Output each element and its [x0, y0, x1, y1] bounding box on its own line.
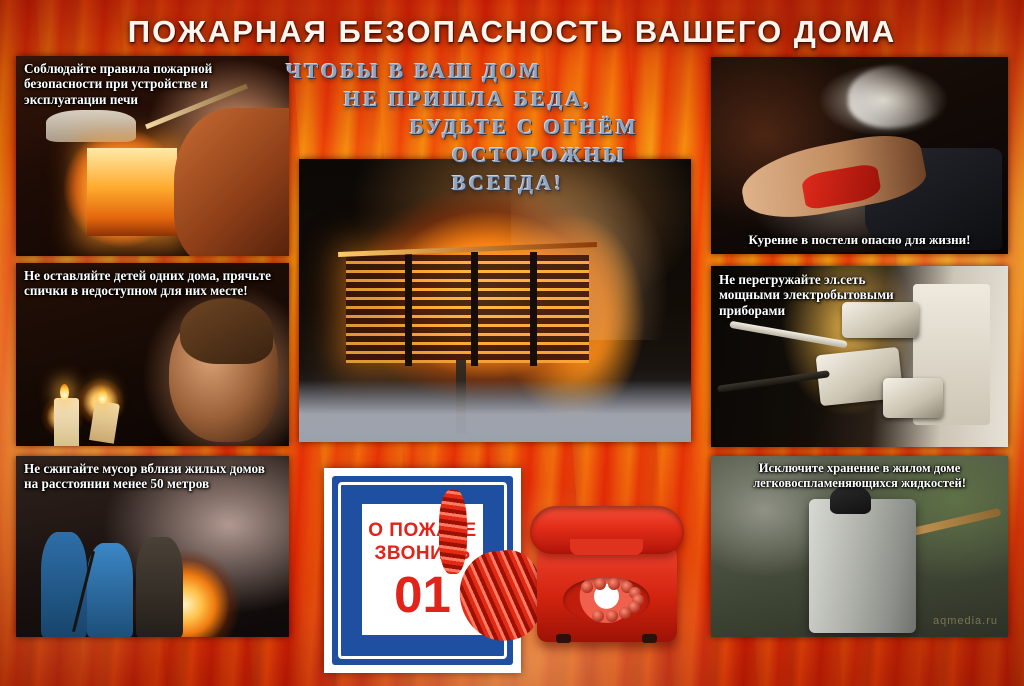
child-hair: [180, 298, 273, 364]
cord-white: [729, 321, 847, 349]
phone-feet: [556, 634, 657, 641]
candle-left: [54, 398, 79, 446]
caption-smoking-in-bed: Курение в постели опасно для жизни!: [711, 232, 1008, 247]
candle-flame-left: [60, 384, 69, 400]
caption-stove: Соблюдайте правила пожарной безопасности…: [24, 61, 274, 107]
poster-title: ПОЖАРНАЯ БЕЗОПАСНОСТЬ ВАШЕГО ДОМА: [0, 14, 1024, 50]
verse-line-3: БУДЬТЕ С ОГНЁМ: [286, 114, 710, 142]
trash-person-b: [87, 543, 133, 637]
caption-fuel-canister: Исключите хранение в жилом доме легковос…: [711, 461, 1008, 490]
stove-pot: [46, 110, 136, 142]
caption-child-candle: Не оставляйте детей одних дома, прячьте …: [24, 268, 279, 299]
photo-panel-smoking-in-bed: Курение в постели опасно для жизни!: [711, 57, 1008, 254]
trash-person-a: [41, 532, 87, 637]
phone-handset-notch: [570, 539, 644, 555]
house-beam-3: [530, 252, 537, 365]
photo-panel-child-candle: Не оставляйте детей одних дома, прячьте …: [16, 263, 289, 446]
phone-dial-hole: [592, 610, 604, 622]
photo-panel-trash-burning: Не сжигайте мусор вблизи жилых домов на …: [16, 456, 289, 637]
photo-panel-fuel-canister: Исключите хранение в жилом доме легковос…: [711, 456, 1008, 637]
phone-dial-hole: [619, 607, 631, 619]
phone-foot-right: [642, 634, 657, 643]
phone-rotary-dial: [563, 577, 650, 623]
trash-firefighter: [136, 537, 182, 637]
red-rotary-telephone: [519, 500, 694, 660]
phone-dial-hole: [608, 578, 620, 590]
smoke-plume: [848, 65, 949, 128]
verse-block: ЧТОБЫ В ВАШ ДОМ НЕ ПРИШЛА БЕДА, БУДЬТЕ С…: [286, 58, 710, 198]
house-burning-wall: [346, 255, 589, 363]
verse-line-4: ОСТОРОЖНЫ ВСЕГДА!: [286, 142, 710, 198]
fire-safety-poster: ПОЖАРНАЯ БЕЗОПАСНОСТЬ ВАШЕГО ДОМА ЧТОБЫ …: [0, 0, 1024, 686]
watermark: aqmedia.ru: [933, 615, 998, 627]
photo-panel-stove: Соблюдайте правила пожарной безопасности…: [16, 56, 289, 256]
plug-lower: [883, 378, 942, 418]
phone-handset: [530, 506, 684, 554]
phone-base: [537, 543, 677, 642]
burning-house-photo: [299, 159, 691, 442]
photo-panel-overloaded-outlet: Не перегружайте эл.сеть мощными электроб…: [711, 266, 1008, 447]
house-beam-1: [405, 252, 412, 365]
cord-black: [717, 370, 830, 393]
candle-flame-right: [98, 388, 107, 404]
metal-canister: [809, 499, 916, 633]
verse-line-1: ЧТОБЫ В ВАШ ДОМ: [286, 58, 710, 86]
house-snow-ground: [299, 380, 691, 442]
caption-overloaded-outlet: Не перегружайте эл.сеть мощными электроб…: [719, 272, 929, 318]
phone-dial-hole: [581, 581, 593, 593]
phone-foot-left: [556, 634, 571, 643]
candle-right: [89, 400, 120, 444]
phone-dial-hole: [606, 610, 618, 622]
phone-dial-hole: [594, 578, 606, 590]
stove-person-arm: [174, 108, 289, 256]
smoking-in-bed-photo: [711, 57, 1008, 254]
house-beam-2: [471, 252, 478, 365]
sign-number: 01: [394, 569, 451, 620]
stove-firebox-glow: [87, 148, 177, 236]
verse-line-2: НЕ ПРИШЛА БЕДА,: [286, 86, 710, 114]
garden-hose: [901, 508, 1001, 539]
caption-trash-burning: Не сжигайте мусор вблизи жилых домов на …: [24, 461, 274, 492]
phone-cord-upper: [439, 490, 467, 573]
photo-panel-burning-house: [299, 159, 691, 442]
